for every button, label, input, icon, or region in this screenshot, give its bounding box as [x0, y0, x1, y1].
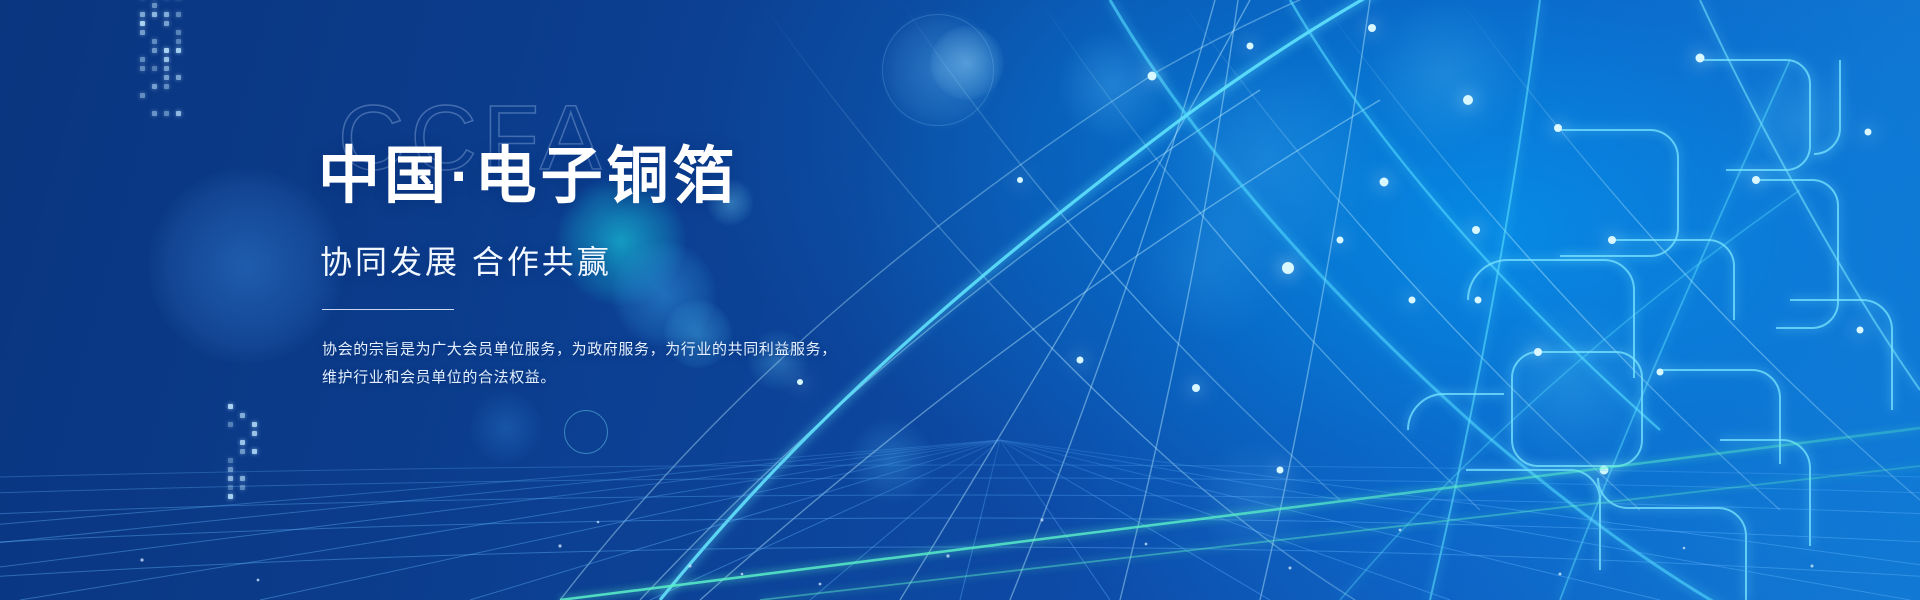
decorative-dot — [228, 404, 233, 409]
page-title: 中国·电子铜箔 — [318, 96, 1218, 211]
decorative-dot — [228, 476, 233, 481]
decorative-dot — [152, 12, 157, 17]
bokeh-circle — [470, 392, 542, 464]
bokeh-ring — [564, 410, 608, 454]
hero-content: CCFA 中国·电子铜箔 协同发展 合作共赢 协会的宗旨是为广大会员单位服务，为… — [318, 96, 1218, 391]
decorative-dot — [228, 458, 233, 463]
bokeh-circle — [1370, 0, 1520, 150]
page-subtitle: 协同发展 合作共赢 — [320, 237, 1218, 283]
decorative-dot — [176, 39, 181, 44]
bokeh-circle — [1738, 60, 1858, 180]
description-line: 维护行业和会员单位的合法权益。 — [322, 364, 1218, 392]
decorative-dot — [152, 3, 157, 8]
bokeh-circle — [148, 168, 344, 364]
bokeh-circle — [1490, 300, 1650, 460]
decorative-dot — [252, 422, 257, 427]
decorative-dot — [140, 12, 145, 17]
decorative-dot — [228, 485, 233, 490]
decorative-dot — [152, 48, 157, 53]
decorative-dot — [164, 111, 169, 116]
description-line: 协会的宗旨是为广大会员单位服务，为政府服务，为行业的共同利益服务， — [322, 336, 1218, 364]
decorative-dot — [152, 84, 157, 89]
decorative-dot — [152, 66, 157, 71]
hero-banner: CCFA 中国·电子铜箔 协同发展 合作共赢 协会的宗旨是为广大会员单位服务，为… — [0, 0, 1920, 600]
decorative-dot — [228, 467, 233, 472]
decorative-dot — [240, 485, 245, 490]
bokeh-circle — [1196, 440, 1316, 560]
decorative-dot — [176, 30, 181, 35]
bokeh-circle — [848, 418, 934, 504]
decorative-dot — [164, 66, 169, 71]
title-divider — [322, 309, 454, 310]
perspective-grid — [0, 370, 1920, 600]
decorative-dot — [140, 93, 145, 98]
decorative-dot — [176, 111, 181, 116]
decorative-dot — [140, 57, 145, 62]
decorative-dot — [228, 494, 233, 499]
decorative-dot — [240, 449, 245, 454]
description-block: 协会的宗旨是为广大会员单位服务，为政府服务，为行业的共同利益服务， 维护行业和会… — [322, 336, 1218, 392]
decorative-dot — [140, 21, 145, 26]
decorative-dot — [176, 75, 181, 80]
decorative-dot — [152, 111, 157, 116]
decorative-dot — [164, 75, 169, 80]
dot-column-bottom-left — [228, 404, 298, 524]
decorative-dot — [164, 57, 169, 62]
decorative-dot — [164, 12, 169, 17]
bokeh-circle — [930, 26, 1004, 100]
decorative-dot — [164, 84, 169, 89]
decorative-dot — [176, 12, 181, 17]
decorative-dot — [252, 431, 257, 436]
decorative-dot — [252, 449, 257, 454]
decorative-dot — [240, 413, 245, 418]
decorative-dot — [164, 48, 169, 53]
decorative-dot — [228, 422, 233, 427]
decorative-dot — [140, 66, 145, 71]
decorative-dot — [240, 476, 245, 481]
decorative-dot — [176, 48, 181, 53]
dot-column-top-left — [140, 0, 230, 114]
decorative-dot — [140, 30, 145, 35]
decorative-dot — [152, 39, 157, 44]
decorative-dot — [164, 21, 169, 26]
decorative-dot — [240, 440, 245, 445]
